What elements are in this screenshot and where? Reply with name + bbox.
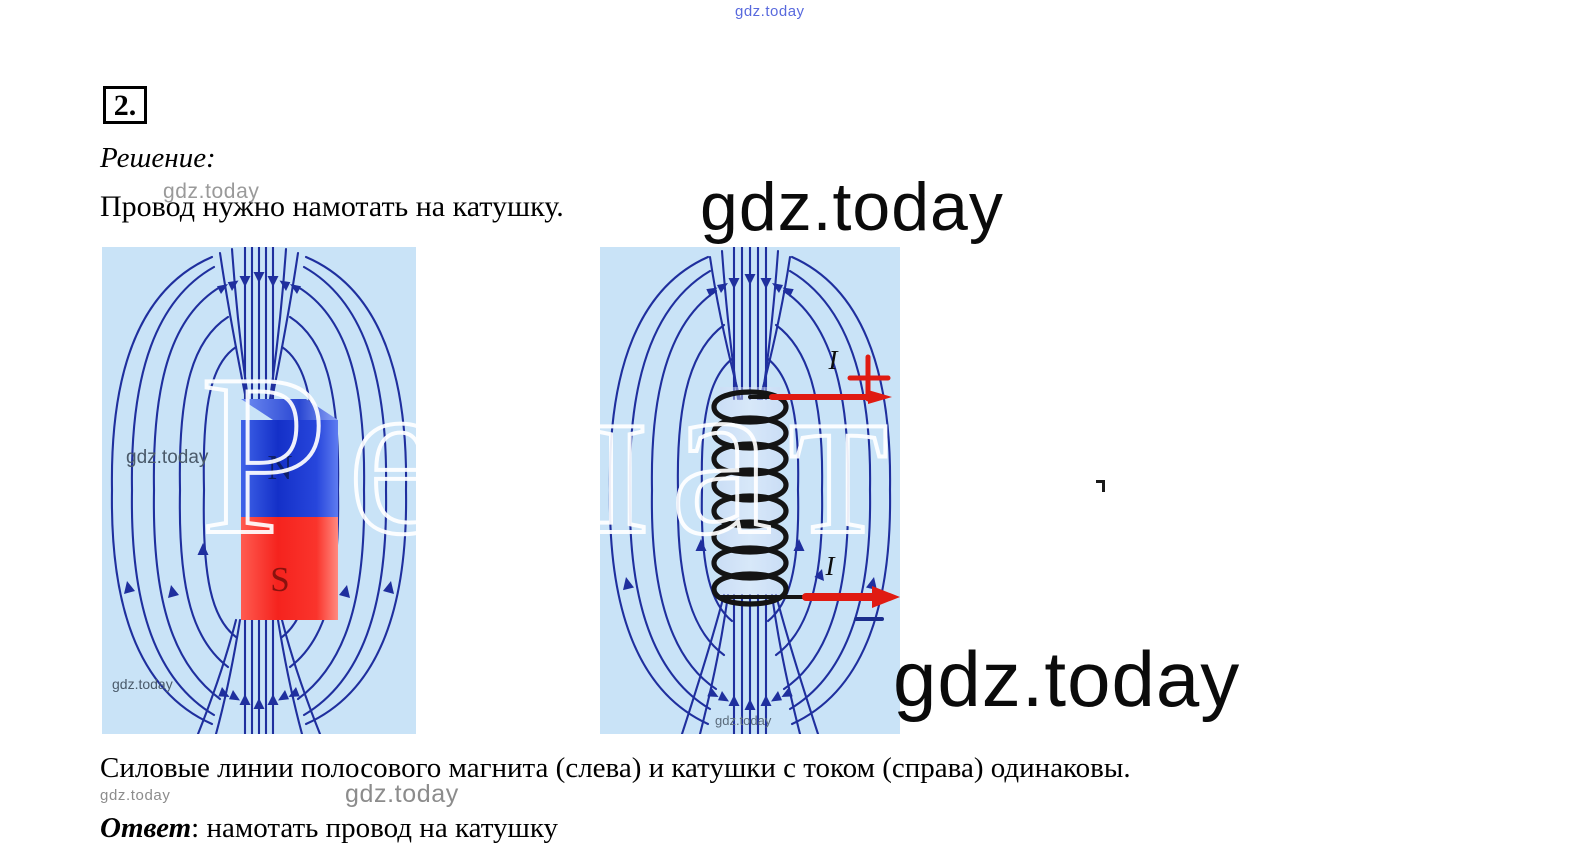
solution-label: Решение: bbox=[100, 142, 216, 175]
answer-line: Ответ: намотать провод на катушку bbox=[100, 812, 558, 845]
figure-caption: Силовые линии полосового магнита (слева)… bbox=[100, 752, 1131, 785]
answer-separator: : bbox=[191, 812, 206, 844]
page-canvas: gdz.today 2. Решение: gdz.today Провод н… bbox=[0, 0, 1582, 867]
bar-magnet-diagram: N S bbox=[102, 247, 416, 734]
watermark-big-1: gdz.today bbox=[700, 168, 1004, 246]
stray-artifact-mark bbox=[1096, 480, 1105, 492]
watermark-figure-left-mid: gdz.today bbox=[126, 447, 208, 469]
watermark-gray-c: gdz.today bbox=[345, 780, 459, 809]
answer-label: Ответ bbox=[100, 812, 191, 844]
figure-bar-magnet: N S bbox=[102, 247, 416, 734]
magnet-pole-label-n: N bbox=[267, 448, 292, 487]
watermark-top-blue: gdz.today bbox=[735, 3, 805, 20]
watermark-big-2: gdz.today bbox=[893, 634, 1240, 725]
task-number-box: 2. bbox=[103, 86, 147, 124]
watermark-figure-right-bottom: gdz.today bbox=[715, 713, 771, 728]
magnet-pole-label-s: S bbox=[270, 560, 289, 599]
watermark-gray-b: gdz.today bbox=[100, 787, 170, 804]
current-coil-diagram: I I bbox=[600, 247, 900, 734]
answer-text: намотать провод на катушку bbox=[206, 812, 558, 844]
watermark-figure-left-bottom: gdz.today bbox=[112, 676, 173, 692]
statement-text: Провод нужно намотать на катушку. bbox=[100, 190, 564, 224]
figure-current-coil: I I bbox=[600, 247, 900, 734]
